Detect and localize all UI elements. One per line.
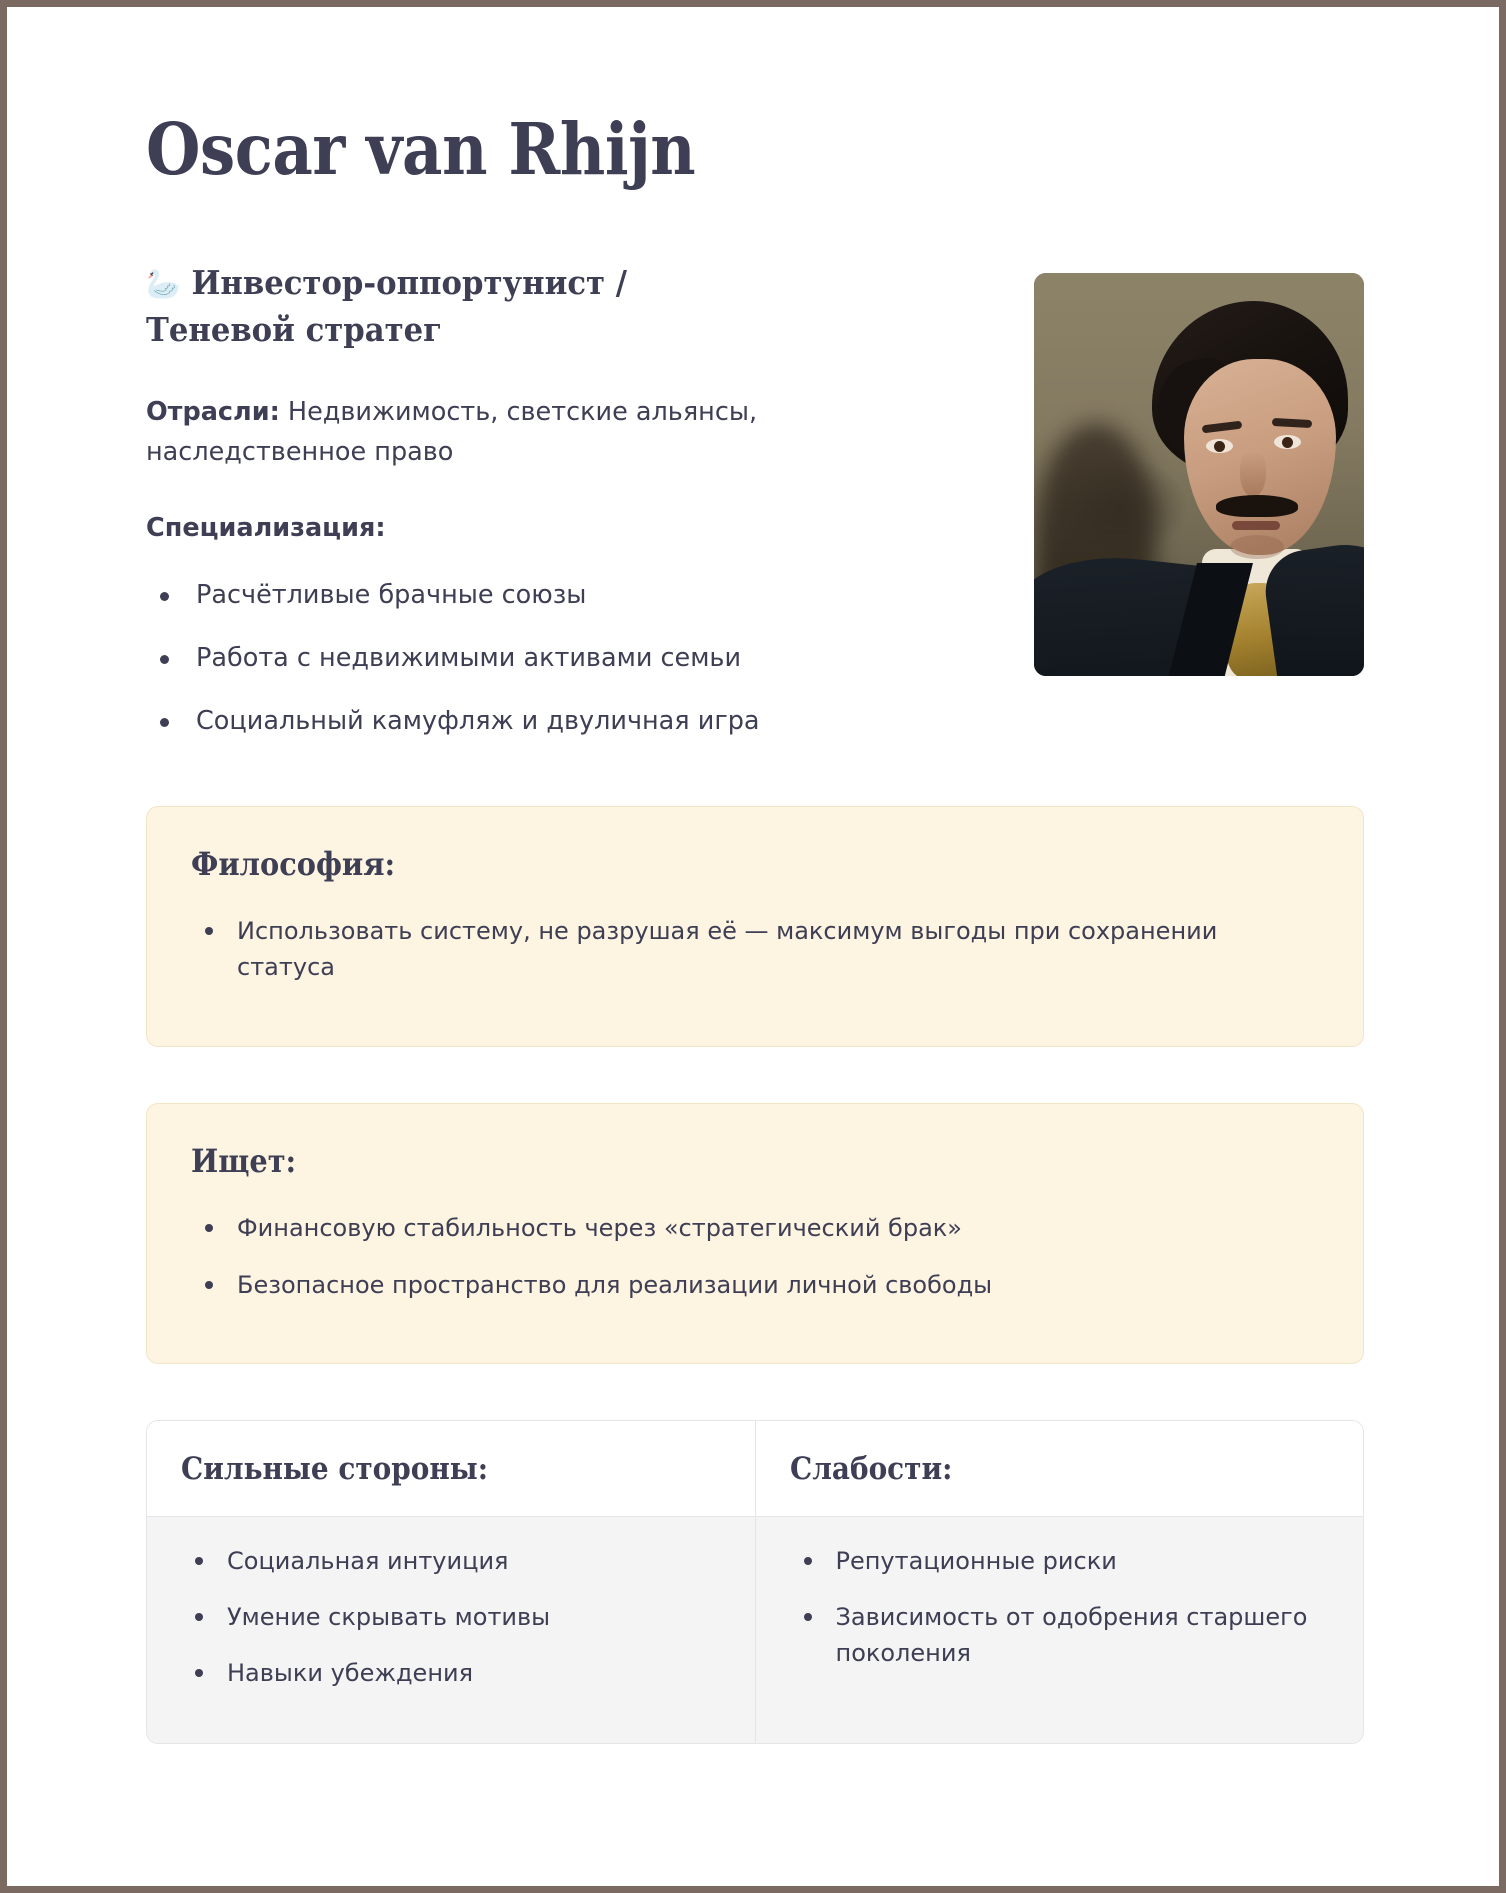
weaknesses-list: Репутационные риски Зависимость от одобр… <box>790 1543 1328 1671</box>
document-page: Oscar van Rhijn 🦢 Инвестор-оппортунист /… <box>0 0 1506 1893</box>
document-content: Oscar van Rhijn 🦢 Инвестор-оппортунист /… <box>7 7 1499 1784</box>
specialization-list: Расчётливые брачные союзы Работа с недви… <box>146 577 806 740</box>
swan-icon: 🦢 <box>146 267 181 302</box>
weaknesses-cell: Репутационные риски Зависимость от одобр… <box>756 1517 1364 1743</box>
list-item: Безопасное пространство для реализации л… <box>191 1267 1319 1303</box>
philosophy-title: Философия: <box>191 845 1206 883</box>
weaknesses-title: Слабости: <box>790 1451 1270 1488</box>
industries-line: Отрасли: Недвижимость, светские альянсы,… <box>146 393 806 473</box>
specialization-label: Специализация: <box>146 511 806 547</box>
list-item: Навыки убеждения <box>181 1655 719 1691</box>
seeks-list: Финансовую стабильность через «стратегич… <box>191 1210 1319 1303</box>
list-item: Репутационные риски <box>790 1543 1328 1579</box>
list-item: Работа с недвижимыми активами семьи <box>146 640 806 677</box>
strengths-list: Социальная интуиция Умение скрывать моти… <box>181 1543 719 1691</box>
portrait-image <box>1034 273 1364 676</box>
hero-section: 🦢 Инвестор-оппортунист / Теневой стратег… <box>146 260 1364 740</box>
seeks-callout: Ищет: Финансовую стабильность через «стр… <box>146 1103 1364 1364</box>
list-item: Использовать систему, не разрушая её — м… <box>191 913 1319 986</box>
table-row: Социальная интуиция Умение скрывать моти… <box>147 1516 1363 1743</box>
weaknesses-header-cell: Слабости: <box>756 1421 1364 1516</box>
hero-text-column: 🦢 Инвестор-оппортунист / Теневой стратег… <box>146 260 806 740</box>
table-header-row: Сильные стороны: Слабости: <box>147 1421 1363 1516</box>
role-subtitle: 🦢 Инвестор-оппортунист / Теневой стратег <box>146 260 760 354</box>
portrait-nose <box>1240 451 1266 497</box>
strengths-title: Сильные стороны: <box>181 1451 661 1488</box>
page-title: Oscar van Rhijn <box>146 111 1218 188</box>
strengths-cell: Социальная интуиция Умение скрывать моти… <box>147 1517 756 1743</box>
list-item: Социальная интуиция <box>181 1543 719 1579</box>
strengths-weaknesses-table: Сильные стороны: Слабости: Социальная ин… <box>146 1420 1364 1744</box>
list-item: Социальный камуфляж и двуличная игра <box>146 703 806 740</box>
strengths-header-cell: Сильные стороны: <box>147 1421 756 1516</box>
portrait-mustache <box>1216 495 1298 517</box>
portrait-eye-left <box>1206 439 1233 453</box>
list-item: Расчётливые брачные союзы <box>146 577 806 614</box>
portrait-eye-right <box>1274 435 1301 449</box>
seeks-title: Ищет: <box>191 1142 1206 1180</box>
portrait-brow-right <box>1272 418 1312 428</box>
portrait-mouth <box>1232 521 1280 530</box>
portrait-backdrop <box>1034 273 1364 676</box>
philosophy-list: Использовать систему, не разрушая её — м… <box>191 913 1319 986</box>
portrait-chin <box>1230 535 1284 559</box>
philosophy-callout: Философия: Использовать систему, не разр… <box>146 806 1364 1047</box>
list-item: Умение скрывать мотивы <box>181 1599 719 1635</box>
list-item: Финансовую стабильность через «стратегич… <box>191 1210 1319 1246</box>
list-item: Зависимость от одобрения старшего поколе… <box>790 1599 1328 1671</box>
role-subtitle-text: Инвестор-оппортунист / Теневой стратег <box>146 263 627 349</box>
industries-label: Отрасли: <box>146 397 280 427</box>
